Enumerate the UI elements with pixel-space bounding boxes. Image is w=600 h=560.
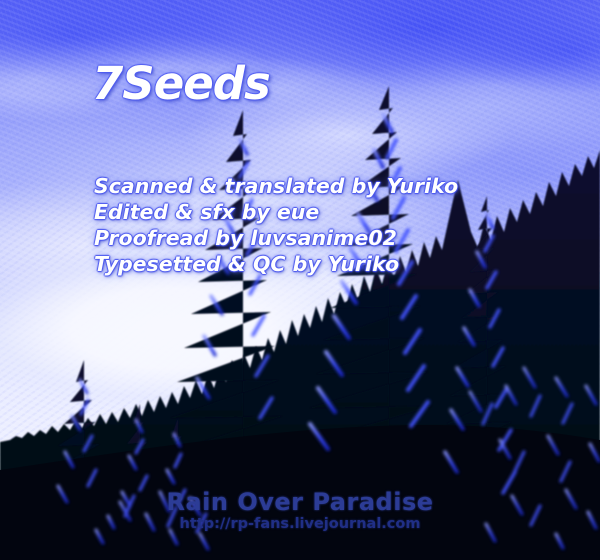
watermark-group-name: Rain Over Paradise <box>0 488 600 516</box>
credit-line-proofread: Proofread by luvsanime02 <box>94 225 458 251</box>
credits-block: Scanned & translated by Yuriko Edited & … <box>94 173 458 277</box>
credit-line-scanned: Scanned & translated by Yuriko <box>94 173 458 199</box>
forest-silhouette <box>0 0 600 560</box>
credit-line-edited: Edited & sfx by eue <box>94 199 458 225</box>
page-title: 7Seeds <box>92 57 270 110</box>
credit-line-typesetted: Typesetted & QC by Yuriko <box>94 251 458 277</box>
manga-credits-page: 7Seeds Scanned & translated by Yuriko Ed… <box>0 0 600 560</box>
watermark-url: http://rp-fans.livejournal.com <box>0 516 600 532</box>
